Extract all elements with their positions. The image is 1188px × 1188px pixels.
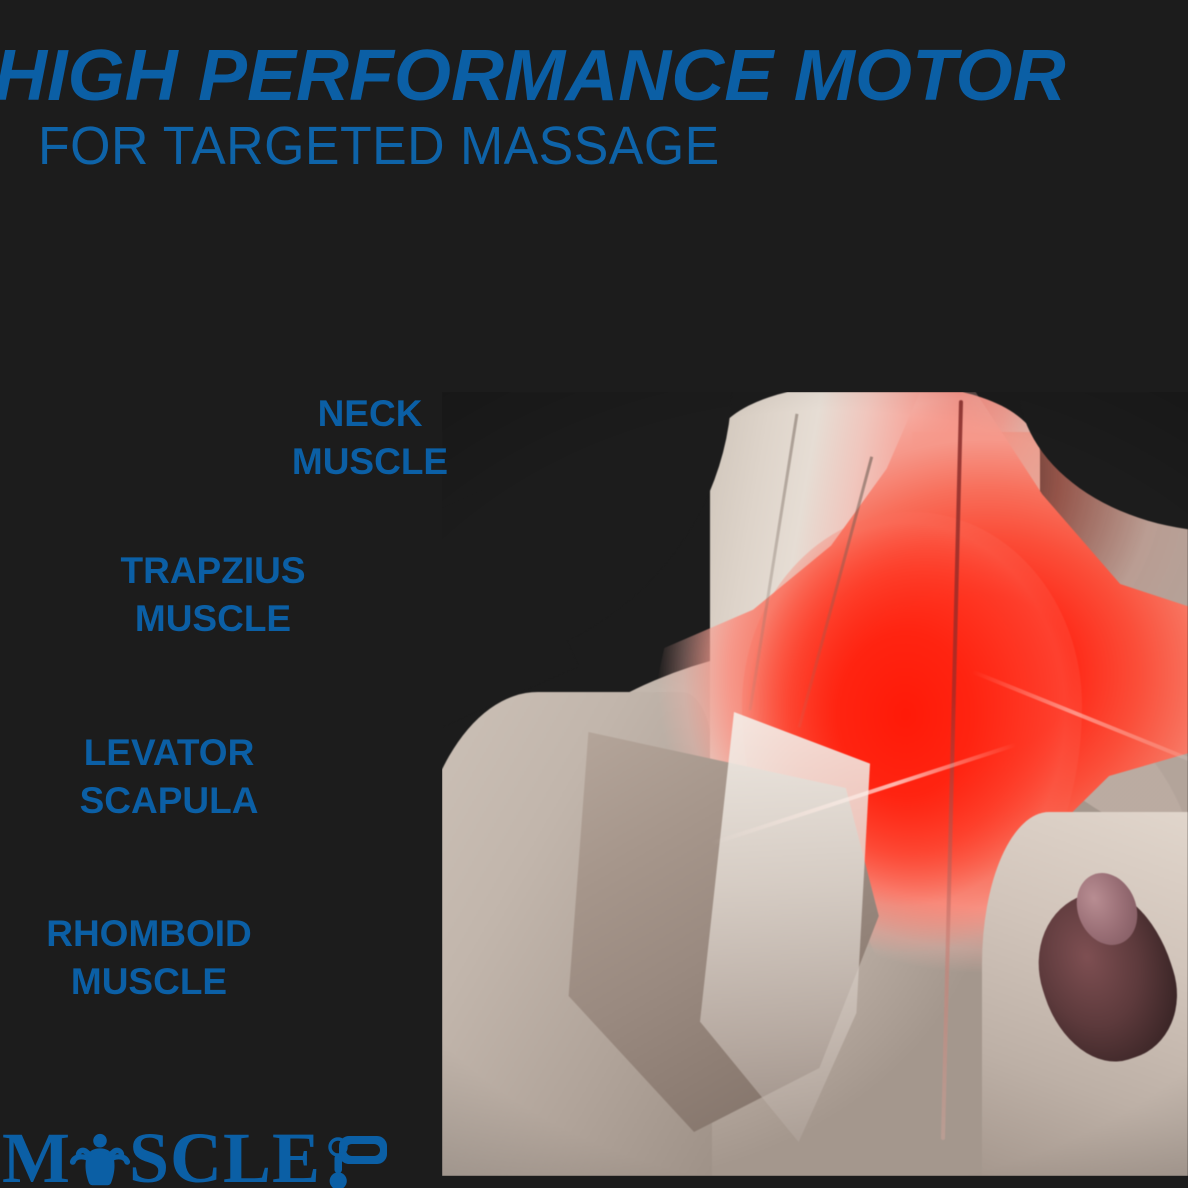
callout-line: MUSCLE	[73, 595, 353, 643]
bodybuilder-flex-icon	[69, 1132, 131, 1188]
page-title: HIGH PERFORMANCE MOTOR	[0, 40, 1014, 112]
callout-line: MUSCLE	[230, 438, 510, 486]
callout-line: RHOMBOID	[9, 910, 289, 958]
anatomy-image	[442, 392, 1188, 1176]
callout-levator-scapula: LEVATOR SCAPULA	[29, 729, 309, 825]
callout-line: TRAPZIUS	[73, 547, 353, 595]
logo-text-scle: SCLE	[129, 1127, 321, 1188]
callout-trapzius-muscle: TRAPZIUS MUSCLE	[73, 547, 353, 643]
callout-line: LEVATOR	[29, 729, 309, 777]
page-subtitle: FOR TARGETED MASSAGE	[38, 119, 720, 173]
callout-line: NECK	[230, 390, 510, 438]
callout-line: SCAPULA	[29, 777, 309, 825]
anatomy-render	[442, 392, 1188, 1176]
poster-canvas: HIGH PERFORMANCE MOTOR FOR TARGETED MASS…	[0, 0, 1188, 1188]
callout-line: MUSCLE	[9, 958, 289, 1006]
logo-text-m: M	[2, 1127, 71, 1188]
callout-neck-muscle: NECK MUSCLE	[230, 390, 510, 486]
callout-rhomboid-muscle: RHOMBOID MUSCLE	[9, 910, 289, 1006]
massage-gun-icon	[323, 1132, 389, 1188]
brand-logo[interactable]: M SCLE	[2, 1126, 389, 1188]
